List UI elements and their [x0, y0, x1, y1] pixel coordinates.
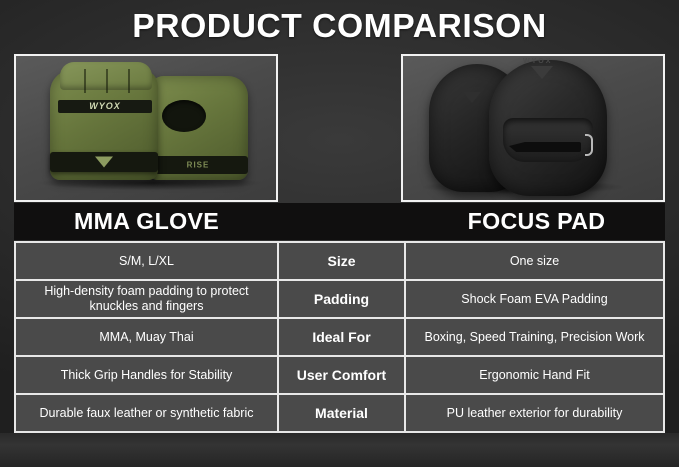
comparison-table: S/M, L/XL Size One size High-density foa… — [14, 241, 665, 433]
cell-attribute-label: Size — [279, 243, 406, 279]
product-name-right: FOCUS PAD — [407, 203, 667, 240]
table-row: High-density foam padding to protect knu… — [16, 281, 663, 319]
cell-left-feature: Thick Grip Handles for Stability — [16, 357, 279, 393]
comparison-infographic: PRODUCT COMPARISON RISE WYOX — [0, 0, 679, 467]
product-name-band: MMA GLOVE FOCUS PAD — [14, 203, 665, 240]
cell-left-feature: High-density foam padding to protect knu… — [16, 281, 279, 317]
glove-cuff-opening — [162, 100, 206, 132]
glove-finger-section — [60, 62, 152, 90]
focus-pad-illustration: WYOX — [403, 56, 663, 200]
mma-glove-illustration: RISE WYOX — [16, 56, 276, 200]
cell-attribute-label: User Comfort — [279, 357, 406, 393]
cell-right-feature: One size — [406, 243, 663, 279]
glove-sub-mark: RISE — [187, 161, 210, 170]
cell-left-feature: MMA, Muay Thai — [16, 319, 279, 355]
cell-right-feature: Shock Foam EVA Padding — [406, 281, 663, 317]
cell-attribute-label: Material — [279, 395, 406, 431]
wyox-triangle-logo-icon — [531, 66, 553, 79]
product-image-left: RISE WYOX — [14, 54, 278, 202]
pad-hand-strap — [509, 142, 581, 152]
pad-hand-cuff — [503, 118, 593, 162]
cell-left-feature: S/M, L/XL — [16, 243, 279, 279]
cell-right-feature: PU leather exterior for durability — [406, 395, 663, 431]
cell-right-feature: Boxing, Speed Training, Precision Work — [406, 319, 663, 355]
cell-attribute-label: Padding — [279, 281, 406, 317]
wyox-triangle-logo-icon — [463, 92, 481, 103]
finger-split-icon — [84, 69, 86, 93]
cell-attribute-label: Ideal For — [279, 319, 406, 355]
glove-brand-label: WYOX — [58, 100, 152, 113]
table-row: Durable faux leather or synthetic fabric… — [16, 395, 663, 431]
finger-split-icon — [106, 69, 108, 93]
cell-right-feature: Ergonomic Hand Fit — [406, 357, 663, 393]
table-row: MMA, Muay Thai Ideal For Boxing, Speed T… — [16, 319, 663, 357]
product-name-left: MMA GLOVE — [13, 203, 281, 240]
product-image-row: RISE WYOX WYOX — [14, 54, 665, 202]
pad-buckle-icon — [585, 134, 593, 156]
page-title: PRODUCT COMPARISON — [0, 6, 679, 46]
glove-second-strap: RISE — [148, 156, 248, 174]
glove-wrist-strap — [50, 152, 158, 172]
cell-left-feature: Durable faux leather or synthetic fabric — [16, 395, 279, 431]
wyox-triangle-logo-icon — [95, 157, 113, 168]
pad-brand-label: WYOX — [523, 58, 552, 65]
product-name-spacer — [278, 203, 408, 240]
table-row: Thick Grip Handles for Stability User Co… — [16, 357, 663, 395]
finger-split-icon — [128, 69, 130, 93]
table-row: S/M, L/XL Size One size — [16, 243, 663, 281]
product-image-right: WYOX — [401, 54, 665, 202]
